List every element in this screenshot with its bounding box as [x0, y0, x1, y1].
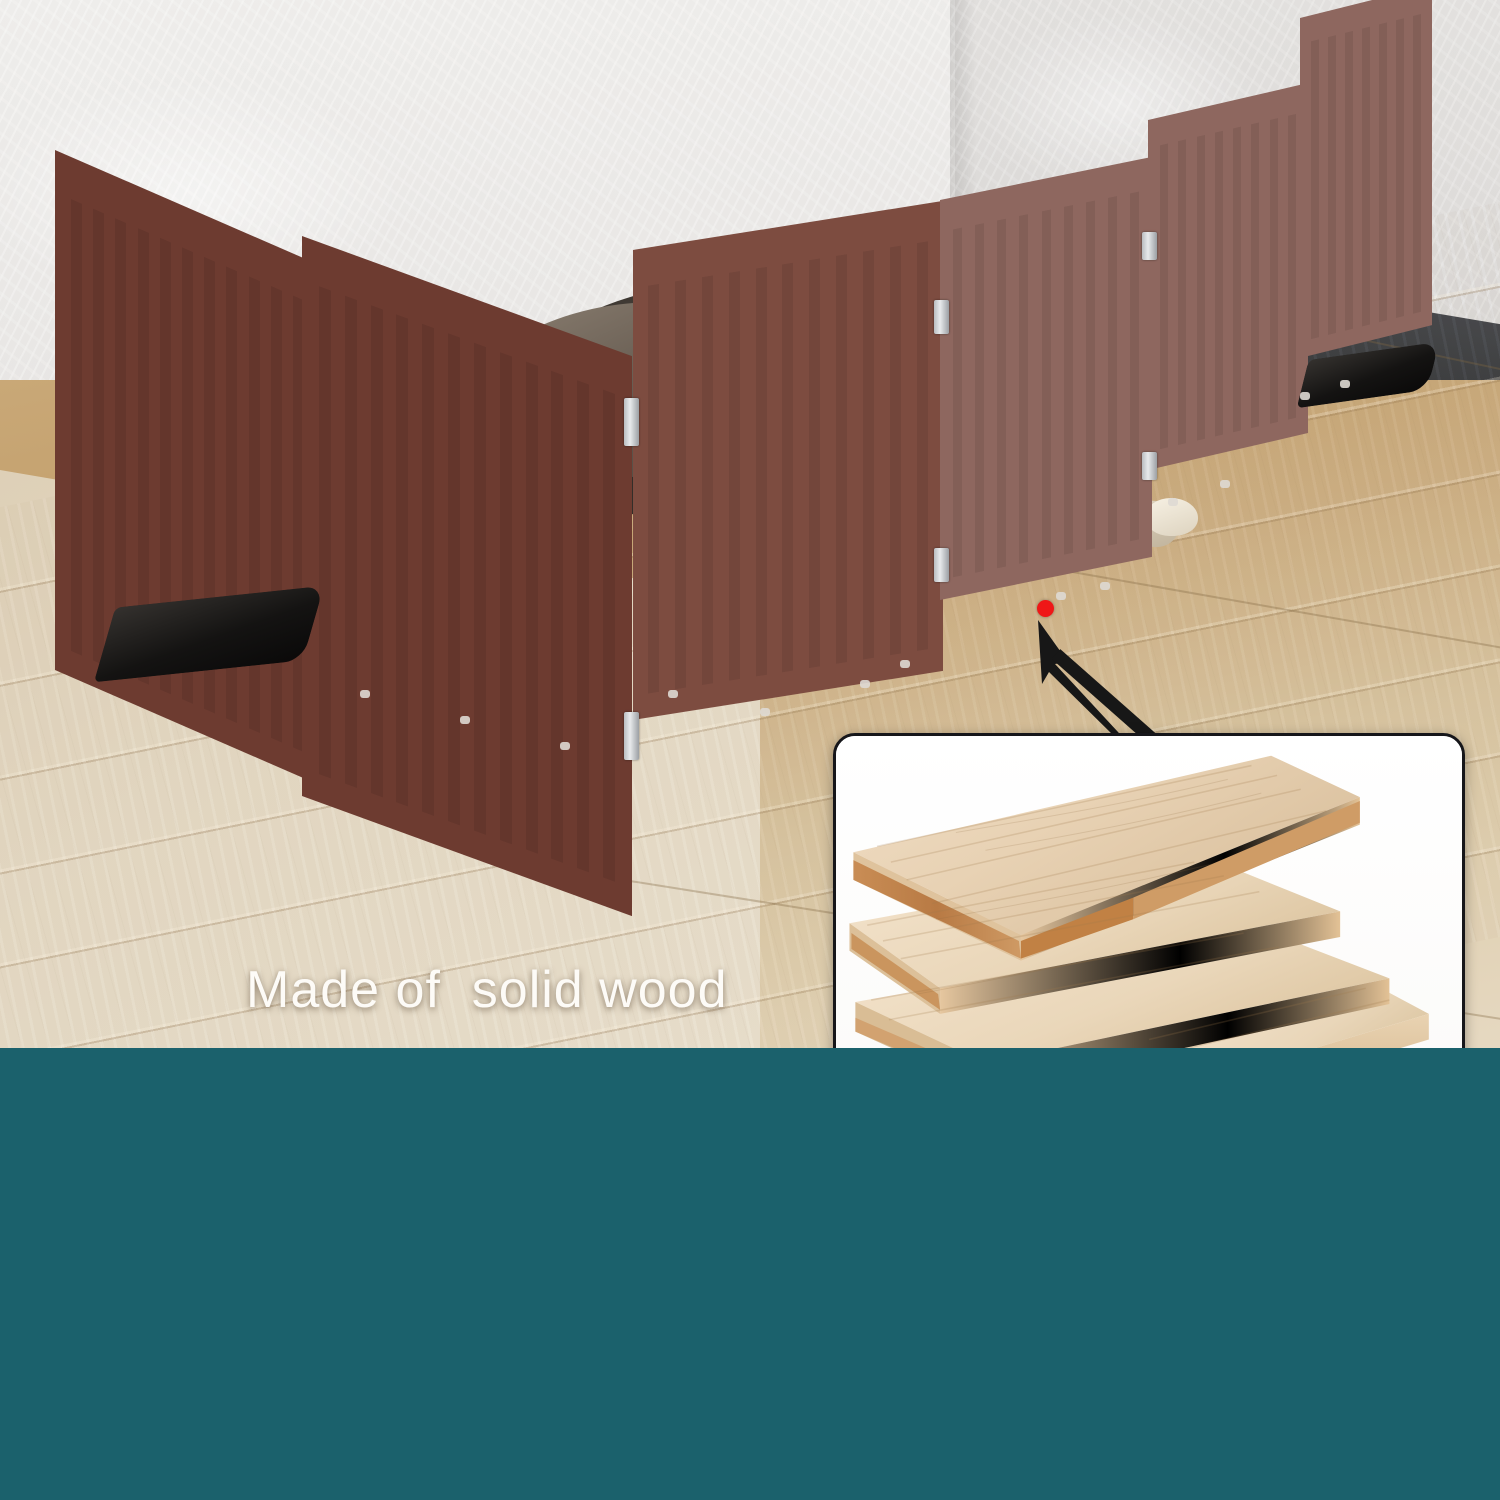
gate-hinge: [1142, 452, 1157, 480]
floor-nub: [1168, 498, 1178, 506]
gate-hinge: [934, 300, 949, 334]
floor-nub: [900, 660, 910, 668]
gate-panel-slats: [1160, 114, 1296, 449]
gate-panel-slats: [648, 241, 928, 693]
gate-slat: [1233, 127, 1241, 433]
gate-hinge: [934, 548, 949, 582]
gate-slat: [756, 267, 767, 677]
gate-slat: [271, 286, 282, 743]
gate-slat: [648, 284, 659, 694]
floor-nub: [460, 716, 470, 724]
floor-nub: [1340, 380, 1350, 388]
floor-nub: [668, 690, 678, 698]
gate-panel-slats: [1311, 14, 1421, 339]
floor-nub: [860, 680, 870, 688]
floor-nub: [1300, 392, 1310, 400]
gate-hinge: [624, 712, 639, 760]
gate-hinge: [624, 398, 639, 446]
gate-panel-slats: [319, 286, 615, 882]
gate-slat: [345, 296, 357, 788]
hero-caption: Made of solid wood: [246, 960, 728, 1020]
gate-slat: [71, 199, 82, 656]
gate-slat: [396, 314, 408, 806]
red-dot-marker: [1037, 600, 1054, 617]
gate-slat: [1288, 114, 1296, 420]
gate-slat: [1328, 35, 1336, 335]
gate-slat: [863, 250, 874, 660]
gate-slat: [1064, 205, 1073, 555]
gate-slat: [500, 352, 512, 844]
gate-slat: [997, 219, 1006, 569]
gate-slat: [975, 223, 984, 573]
gate-panel-5: [1148, 83, 1308, 470]
product-feature-image: Made of solid wood: [0, 0, 1500, 1500]
gate-slat: [371, 305, 383, 797]
gate-panel-6: [1300, 0, 1432, 358]
gate-slat: [551, 371, 563, 863]
floor-nub: [760, 708, 770, 716]
floor-nub: [1220, 480, 1230, 488]
gate-slat: [526, 361, 538, 853]
gate-slat: [953, 228, 962, 578]
gate-slat: [1178, 139, 1186, 445]
gate-slat: [1019, 214, 1028, 564]
gate-slat: [1345, 31, 1353, 331]
gate-slat: [1362, 27, 1370, 327]
floor-nub: [1056, 592, 1066, 600]
gate-slat: [1042, 210, 1051, 560]
gate-slat: [1251, 122, 1259, 428]
gate-slat: [1413, 14, 1421, 314]
gate-slat: [1130, 192, 1139, 542]
gate-panel-slats: [953, 192, 1139, 578]
gate-slat: [809, 258, 820, 668]
gate-slat: [890, 246, 901, 656]
gate-slat: [836, 254, 847, 664]
gate-slat: [422, 324, 434, 816]
gate-slat: [1197, 135, 1205, 441]
floor-nub: [360, 690, 370, 698]
gate-slat: [1311, 39, 1319, 339]
features-panel: 1. Limit your pet from running around2. …: [0, 1048, 1500, 1500]
gate-slat: [1215, 131, 1223, 437]
gate-slat: [319, 286, 331, 778]
gate-slat: [702, 275, 713, 685]
gate-panel-2: [302, 236, 632, 916]
gate-slat: [577, 380, 589, 872]
gate-slat: [1086, 201, 1095, 551]
floor-nub: [560, 742, 570, 750]
gate-slat: [782, 263, 793, 673]
gate-slat: [93, 209, 104, 666]
gate-slat: [474, 343, 486, 835]
gate-hinge: [1142, 232, 1157, 260]
gate-slat: [603, 390, 615, 882]
gate-slat: [1396, 18, 1404, 318]
gate-panel-3: [633, 201, 943, 720]
gate-slat: [1270, 118, 1278, 424]
gate-slat: [1160, 143, 1168, 449]
gate-slat: [1379, 22, 1387, 322]
gate-slat: [675, 280, 686, 690]
gate-slat: [448, 333, 460, 825]
gate-slat: [729, 271, 740, 681]
gate-panel-4: [940, 157, 1152, 600]
floor-nub: [1100, 582, 1110, 590]
gate-slat: [1108, 196, 1117, 546]
gate-slat: [917, 241, 928, 651]
